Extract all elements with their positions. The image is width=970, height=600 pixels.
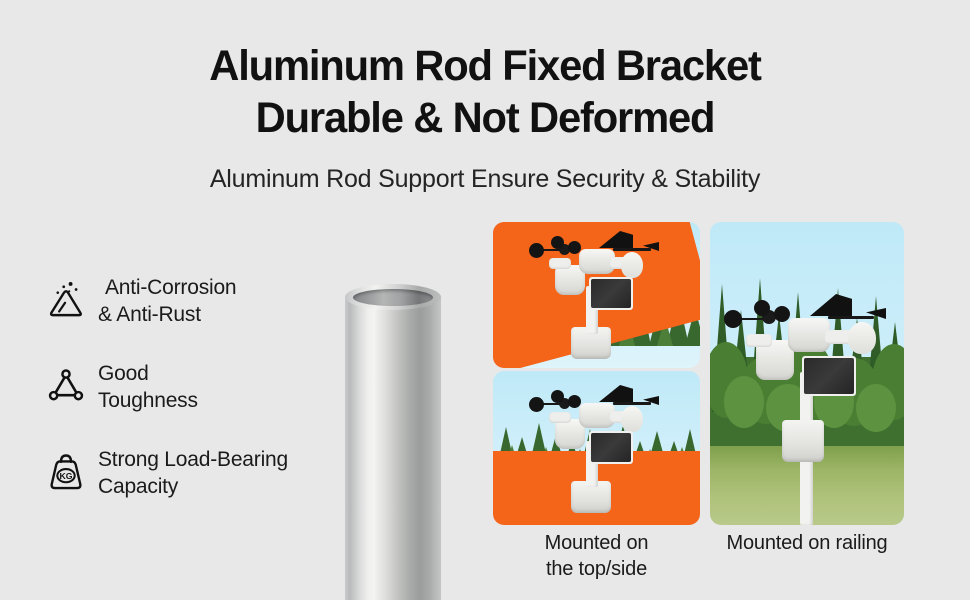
anemometer-cup-1: [529, 397, 544, 412]
solar-display-panel: [589, 277, 633, 310]
device-arm-left: [746, 334, 772, 347]
feature-item-anti-corrosion: Anti-Corrosion & Anti-Rust: [42, 272, 342, 328]
solar-display-panel: [589, 431, 633, 464]
toughness-triangle-icon: [42, 360, 90, 412]
weight-icon-label: KG: [59, 471, 72, 481]
anemometer-cup-3: [774, 306, 790, 322]
photo-mounted-top-side-flat: [493, 371, 700, 525]
caption-line-1: Mounted on: [545, 532, 649, 554]
feature-label-line-1: Anti-Corrosion: [98, 274, 236, 301]
feature-label-line-2: & Anti-Rust: [98, 301, 236, 328]
title-line-2: Durable & Not Deformed: [15, 92, 956, 144]
anemometer-cup-1: [724, 310, 742, 328]
anemometer-cup-3: [568, 395, 581, 408]
anemometer-cup-3: [568, 241, 581, 254]
feature-label-load-bearing: Strong Load-Bearing Capacity: [98, 444, 288, 500]
device-bulb-right: [848, 322, 876, 354]
caption-mounted-top-side: Mounted on the top/side: [493, 530, 700, 582]
wind-vane-fin: [810, 294, 852, 316]
caption-line-1: Mounted on railing: [727, 532, 888, 554]
panel-face: [591, 279, 631, 308]
rod-bore-opening: [353, 289, 433, 306]
photo-mounted-on-railing: [710, 222, 904, 525]
solar-display-panel: [802, 356, 856, 396]
aluminum-rod-image: [345, 284, 441, 600]
wind-vane-fin: [599, 385, 633, 402]
feature-label-anti-corrosion: Anti-Corrosion & Anti-Rust: [98, 272, 236, 328]
anti-corrosion-icon: [42, 274, 90, 326]
wind-vane-fin: [599, 231, 633, 248]
weather-station-device: [493, 371, 700, 525]
rod-body: [345, 296, 441, 600]
infographic-canvas: Aluminum Rod Fixed Bracket Durable & Not…: [0, 0, 970, 600]
caption-line-2: the top/side: [546, 558, 647, 580]
page-title: Aluminum Rod Fixed Bracket Durable & Not…: [0, 40, 970, 144]
wind-vane-shaft: [613, 248, 651, 251]
weight-kg-icon: KG: [42, 446, 90, 498]
feature-item-load-bearing: KG Strong Load-Bearing Capacity: [42, 444, 342, 500]
weather-station-device: [710, 222, 904, 525]
anemometer-cup-2: [551, 236, 564, 249]
wind-vane-shaft: [828, 316, 874, 319]
device-arm-left: [549, 412, 571, 423]
feature-label-line-1: Strong Load-Bearing: [98, 446, 288, 473]
feature-label-line-2: Capacity: [98, 473, 288, 500]
wind-vane-shaft: [613, 402, 651, 405]
feature-item-good-toughness: Good Toughness: [42, 358, 342, 414]
device-bulb-right: [621, 252, 643, 278]
device-arm-left: [549, 258, 571, 269]
anemometer-cup-2: [754, 300, 770, 316]
panel-face: [591, 433, 631, 462]
page-subtitle: Aluminum Rod Support Ensure Security & S…: [0, 163, 970, 195]
panel-face: [804, 358, 854, 394]
feature-label-good-toughness: Good Toughness: [98, 358, 198, 414]
device-bulb-right: [621, 406, 643, 432]
feature-label-line-1: Good: [98, 360, 198, 387]
title-line-1: Aluminum Rod Fixed Bracket: [15, 40, 956, 92]
anemometer-cup-1: [529, 243, 544, 258]
weather-station-device: [493, 222, 700, 368]
photo-mounted-top-side-diagonal: [493, 222, 700, 368]
anemometer-cup-2: [551, 390, 564, 403]
feature-label-line-2: Toughness: [98, 387, 198, 414]
caption-mounted-on-railing: Mounted on railing: [705, 530, 909, 556]
railing-bracket: [782, 420, 824, 462]
feature-list: Anti-Corrosion & Anti-Rust Good Toughnes…: [42, 272, 342, 530]
